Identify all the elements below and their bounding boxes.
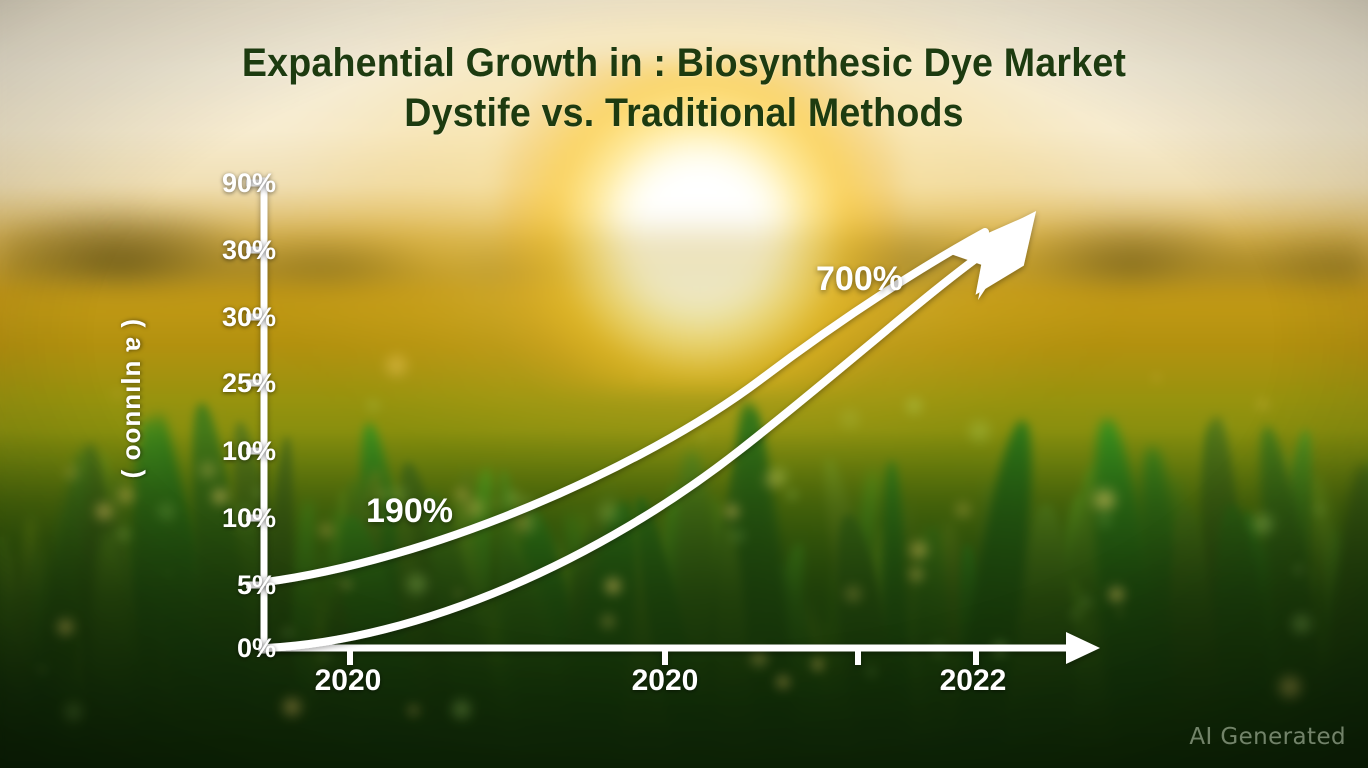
y-tick-label: 90% xyxy=(222,168,276,199)
y-axis-title: ( oonnıln ɐ ) xyxy=(116,318,156,478)
y-tick-label: 5% xyxy=(237,570,276,601)
x-axis-arrowhead xyxy=(1066,632,1100,664)
y-tick-label: 30% xyxy=(222,235,276,266)
x-tick-label: 2020 xyxy=(605,664,725,698)
y-tick-label: 10% xyxy=(222,503,276,534)
chart-image: Expahential Growth in : Biosynthesic Dye… xyxy=(0,0,1368,768)
y-tick-label: 0% xyxy=(237,633,276,664)
y-tick-label: 30% xyxy=(222,302,276,333)
y-tick-label: 25% xyxy=(222,368,276,399)
x-tick-label: 2022 xyxy=(913,664,1033,698)
series-label-700: 700% xyxy=(816,260,903,299)
series-label-190: 190% xyxy=(366,492,453,531)
series-line-lower xyxy=(266,245,995,648)
chart-canvas xyxy=(0,0,1368,768)
x-tick-label: 2020 xyxy=(288,664,408,698)
y-tick-label: 10% xyxy=(222,436,276,467)
ai-generated-watermark: AI Generated xyxy=(1189,724,1346,750)
